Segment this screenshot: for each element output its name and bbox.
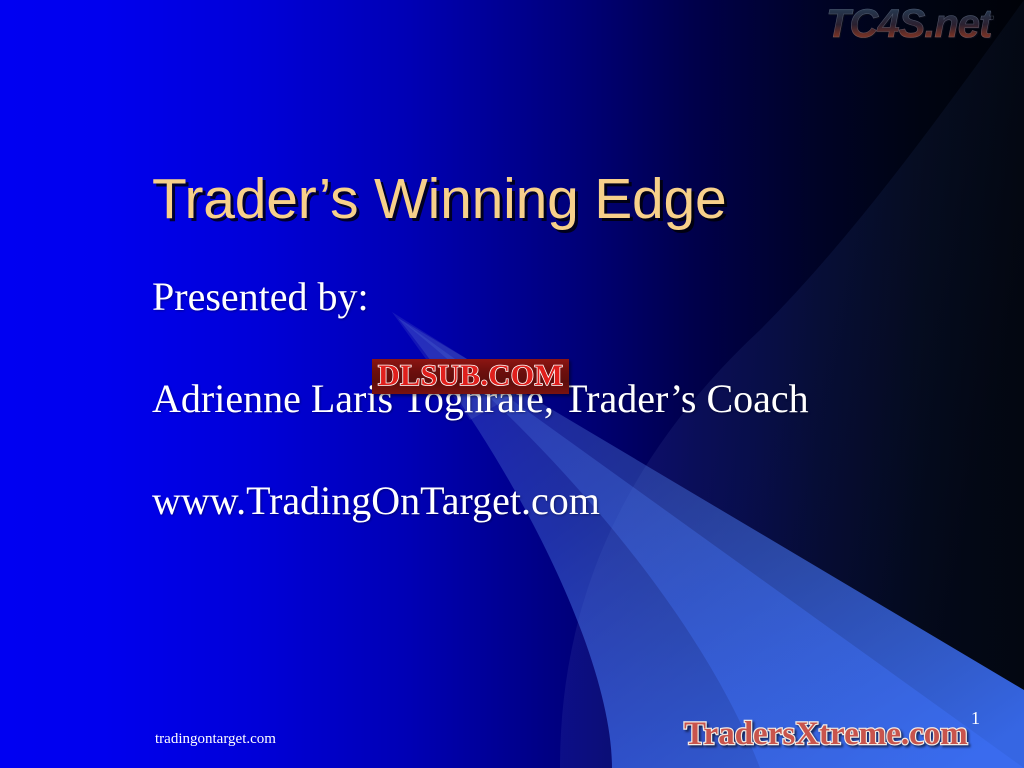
- body-line-website: www.TradingOnTarget.com: [152, 481, 952, 521]
- watermark-tc4s: TC4S.net: [826, 2, 991, 47]
- slide-page-number: 1: [971, 708, 980, 729]
- footer-site-label: tradingontarget.com: [155, 731, 276, 748]
- presentation-slide: TC4S.net Trader’s Winning Edge Presented…: [0, 0, 1024, 768]
- body-line-presented-by: Presented by:: [152, 277, 952, 317]
- watermark-tradersxtreme: TradersXtreme.com: [684, 718, 968, 751]
- slide-body: Presented by: Adrienne Laris Toghraie, T…: [152, 277, 952, 521]
- slide-title: Trader’s Winning Edge: [152, 171, 727, 228]
- watermark-dlsub: DLSUB.COM: [372, 359, 569, 394]
